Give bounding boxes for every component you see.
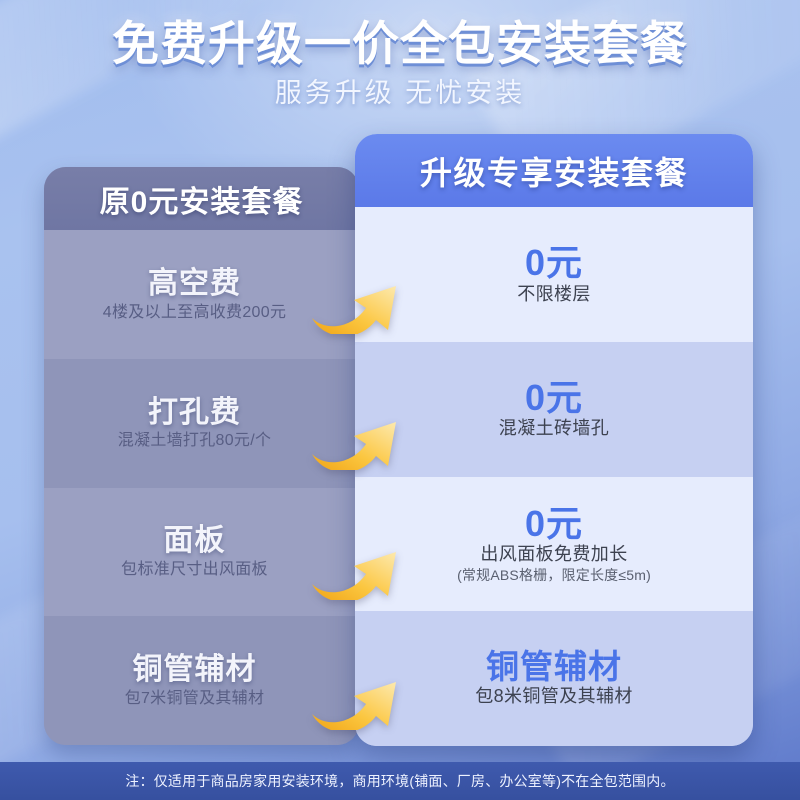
new-row-desc: 不限楼层 <box>517 284 591 306</box>
new-row-desc: 出风面板免费加长 <box>480 544 627 566</box>
old-package-header: 原0元安装套餐 <box>44 167 359 230</box>
new-row-title: 0元 <box>525 504 583 544</box>
table-row: 打孔费 混凝土墙打孔80元/个 <box>44 359 359 488</box>
table-row: 铜管辅材 包8米铜管及其辅材 <box>355 611 753 746</box>
table-row: 0元 混凝土砖墙孔 <box>355 342 753 477</box>
old-row-title: 铜管辅材 <box>133 653 257 687</box>
old-row-desc: 混凝土墙打孔80元/个 <box>118 431 272 450</box>
old-row-desc: 包7米铜管及其辅材 <box>125 689 265 708</box>
new-package-header: 升级专享安装套餐 <box>355 134 753 207</box>
old-row-title: 高空费 <box>148 267 241 301</box>
new-row-note: (常规ABS格栅，限定长度≤5m) <box>457 567 651 584</box>
new-row-title: 铜管辅材 <box>486 649 622 685</box>
page-subtitle: 服务升级 无忧安装 <box>0 77 800 109</box>
comparison-panels: 原0元安装套餐 高空费 4楼及以上至高收费200元 打孔费 混凝土墙打孔80元/… <box>0 0 800 800</box>
poster-header: 免费升级一价全包安装套餐 服务升级 无忧安装 <box>0 0 800 110</box>
old-row-desc: 包标准尺寸出风面板 <box>121 560 268 579</box>
table-row: 0元 出风面板免费加长 (常规ABS格栅，限定长度≤5m) <box>355 477 753 612</box>
old-package-rows: 高空费 4楼及以上至高收费200元 打孔费 混凝土墙打孔80元/个 面板 包标准… <box>44 230 359 745</box>
new-package-panel: 升级专享安装套餐 0元 不限楼层 0元 混凝土砖墙孔 0元 出风面板免费加长 (… <box>355 134 753 746</box>
new-package-rows: 0元 不限楼层 0元 混凝土砖墙孔 0元 出风面板免费加长 (常规ABS格栅，限… <box>355 207 753 746</box>
old-row-title: 打孔费 <box>148 396 241 430</box>
table-row: 高空费 4楼及以上至高收费200元 <box>44 230 359 359</box>
old-row-desc: 4楼及以上至高收费200元 <box>103 303 287 322</box>
new-row-title: 0元 <box>525 243 583 283</box>
table-row: 面板 包标准尺寸出风面板 <box>44 488 359 617</box>
table-row: 铜管辅材 包7米铜管及其辅材 <box>44 616 359 745</box>
footer-bar: 注：仅适用于商品房家用安装环境，商用环境(铺面、厂房、办公室等)不在全包范围内。 <box>0 762 800 800</box>
new-row-title: 0元 <box>525 378 583 418</box>
page-title: 免费升级一价全包安装套餐 <box>0 0 800 71</box>
old-row-title: 面板 <box>164 524 226 558</box>
table-row: 0元 不限楼层 <box>355 207 753 342</box>
new-row-desc: 包8米铜管及其辅材 <box>475 686 633 708</box>
new-row-desc: 混凝土砖墙孔 <box>499 418 609 440</box>
old-package-panel: 原0元安装套餐 高空费 4楼及以上至高收费200元 打孔费 混凝土墙打孔80元/… <box>44 167 359 745</box>
promo-poster: 免费升级一价全包安装套餐 服务升级 无忧安装 原0元安装套餐 高空费 4楼及以上… <box>0 0 800 800</box>
footer-note: 注：仅适用于商品房家用安装环境，商用环境(铺面、厂房、办公室等)不在全包范围内。 <box>125 771 674 791</box>
